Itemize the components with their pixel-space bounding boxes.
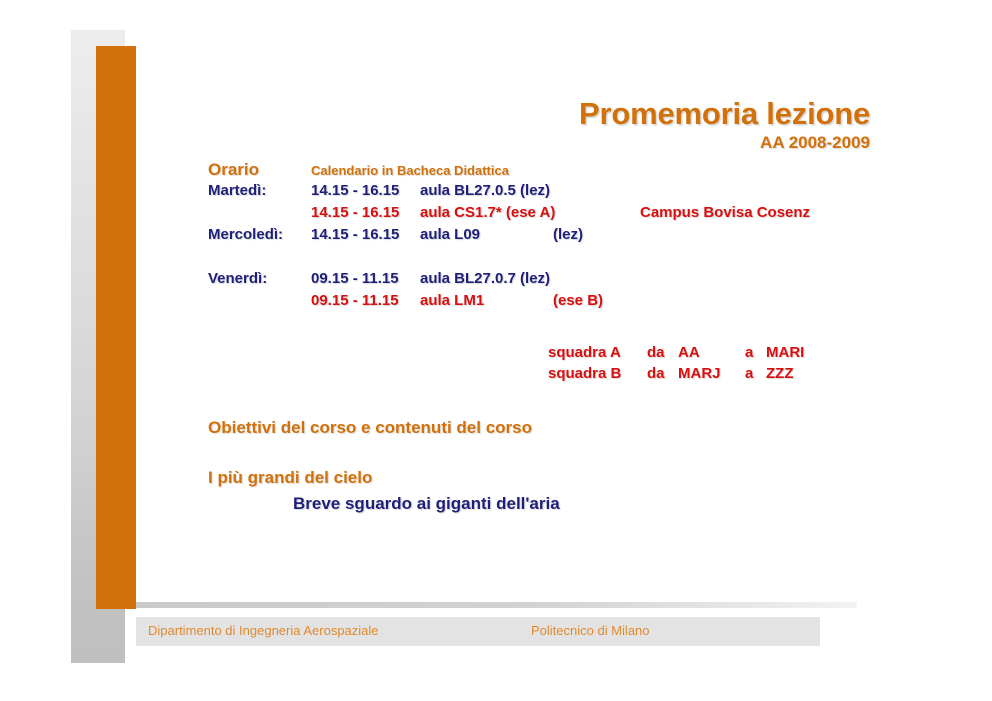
row-room: aula CS1.7* (ese A) (420, 204, 555, 221)
row-time: 14.15 - 16.15 (311, 226, 399, 243)
bullet-grandi: I più grandi del cielo (208, 468, 372, 488)
slide-canvas: Meccanica del Volo Promemoria lezione AA… (0, 0, 992, 701)
schedule-header-note: Calendario in Bacheca Didattica (311, 163, 509, 178)
table-row: 09.15 - 11.15 aula LM1 (ese B) (208, 292, 908, 314)
bullet-breve: Breve sguardo ai giganti dell'aria (293, 494, 560, 514)
row-kind: (lez) (553, 226, 583, 243)
table-row: Venerdì: 09.15 - 11.15 aula BL27.0.7 (le… (208, 270, 908, 292)
row-day: Venerdì: (208, 270, 267, 287)
squad-to: MARI (766, 344, 804, 361)
row-kind: (ese B) (553, 292, 603, 309)
row-day: Martedì: (208, 182, 266, 199)
row-time: 09.15 - 11.15 (311, 292, 399, 309)
row-day: Mercoledì: (208, 226, 283, 243)
sidebar-orange-band: Meccanica del Volo (96, 46, 136, 609)
row-room: aula BL27.0.7 (lez) (420, 270, 550, 287)
squad-from: AA (678, 344, 700, 361)
squad-from: MARJ (678, 365, 721, 382)
schedule-table: Orario Calendario in Bacheca Didattica M… (208, 160, 908, 314)
bullet-obiettivi: Obiettivi del corso e contenuti del cors… (208, 418, 532, 438)
squad-to: ZZZ (766, 365, 794, 382)
squad-to-label: a (745, 344, 753, 361)
table-row: Martedì: 14.15 - 16.15 aula BL27.0.5 (le… (208, 182, 908, 204)
squad-to-label: a (745, 365, 753, 382)
schedule-spacer (208, 248, 908, 270)
footer-divider (136, 602, 857, 608)
squad-from-label: da (647, 365, 665, 382)
row-room: aula LM1 (420, 292, 484, 309)
table-row: 14.15 - 16.15 aula CS1.7* (ese A) Campus… (208, 204, 908, 226)
schedule-header-label: Orario (208, 160, 259, 180)
row-room: aula L09 (420, 226, 480, 243)
page-title: Promemoria lezione (579, 96, 870, 132)
row-room: aula BL27.0.5 (lez) (420, 182, 550, 199)
row-time: 09.15 - 11.15 (311, 270, 399, 287)
row-time: 14.15 - 16.15 (311, 204, 399, 221)
table-row: Mercoledì: 14.15 - 16.15 aula L09 (lez) (208, 226, 908, 248)
footer-department: Dipartimento di Ingegneria Aerospaziale (148, 623, 379, 638)
squad-name: squadra A (548, 344, 621, 361)
academic-year: AA 2008-2009 (760, 133, 870, 153)
footer-university: Politecnico di Milano (531, 623, 650, 638)
schedule-header-row: Orario Calendario in Bacheca Didattica (208, 160, 908, 182)
row-note: Campus Bovisa Cosenz (640, 204, 810, 221)
row-time: 14.15 - 16.15 (311, 182, 399, 199)
footer-bar: Dipartimento di Ingegneria Aerospaziale … (136, 617, 820, 646)
squad-from-label: da (647, 344, 665, 361)
squad-name: squadra B (548, 365, 621, 382)
